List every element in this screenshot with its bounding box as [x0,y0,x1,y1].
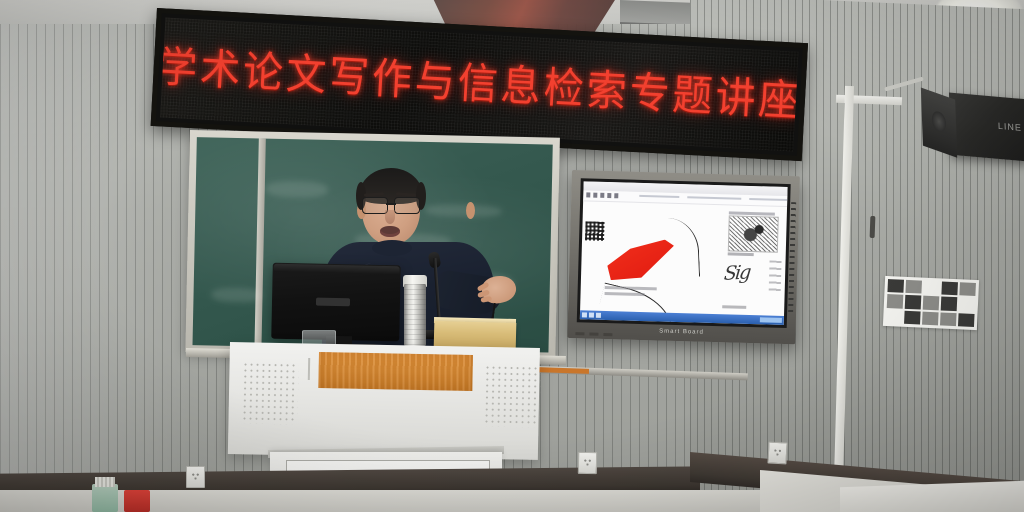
mouth [380,226,400,237]
podium-speaker-grille-right [483,364,540,427]
poster-cell [923,281,940,295]
taskbar-tray[interactable] [760,317,782,323]
monitor-badge [316,298,350,307]
blackboard-divider [254,138,265,346]
qr-code-icon [585,221,605,241]
signature-caption-line [722,305,746,309]
poster-cell [887,279,904,293]
poster-cell [905,280,922,294]
chalk-smudge [211,287,261,302]
red-container [124,490,150,512]
toolbar-icons[interactable] [586,192,618,198]
poster-cell [959,298,976,312]
ear-right [466,202,475,219]
glasses-bridge [386,203,396,205]
poster-cell [923,296,940,310]
podium-seam [308,358,310,380]
poster-cell [941,297,958,311]
wall-speaker: LINE [949,92,1024,161]
speaker-logo: LINE [998,121,1022,133]
floor-object [840,481,1024,512]
wall-power-outlet[interactable] [767,442,787,465]
podium-speaker-grille-left [241,361,298,424]
desktop-monitor [271,263,401,342]
poster-cell [959,282,976,296]
sidebar-text-lines [769,261,782,295]
nose [385,210,395,224]
display-bezel: Sig [577,178,791,328]
wall-notice-board [883,276,979,330]
wall-clip [870,216,876,238]
poster-cell [941,281,958,295]
poster-cell [904,310,921,324]
collar [372,240,412,256]
wall-power-outlet[interactable] [578,452,597,474]
lecture-hall-photo: LINE 学术论文写作与信息检索专题讲座 [0,0,1024,512]
poster-cell [887,294,904,308]
monitor-top-edge [274,264,400,275]
green-container [92,484,118,512]
poster-cell [922,311,939,325]
led-banner-text: 学术论文写作与信息检索专题讲座 [160,46,798,123]
photo-caption-line [728,252,754,256]
taskbar-icons[interactable] [582,312,601,318]
wall-power-outlet[interactable] [186,466,205,488]
grayscale-photo [728,215,779,252]
display-screen[interactable]: Sig [580,181,788,325]
smart-display[interactable]: Sig Smart Board [567,170,800,344]
curve-annotation [643,217,700,279]
poster-cell [940,312,957,326]
poster-cell [886,310,903,324]
poster-cell [905,295,922,309]
thermos-flask [404,284,426,346]
lens-right [394,197,420,214]
poster-cell [958,313,975,327]
podium-front-panel [318,352,473,391]
